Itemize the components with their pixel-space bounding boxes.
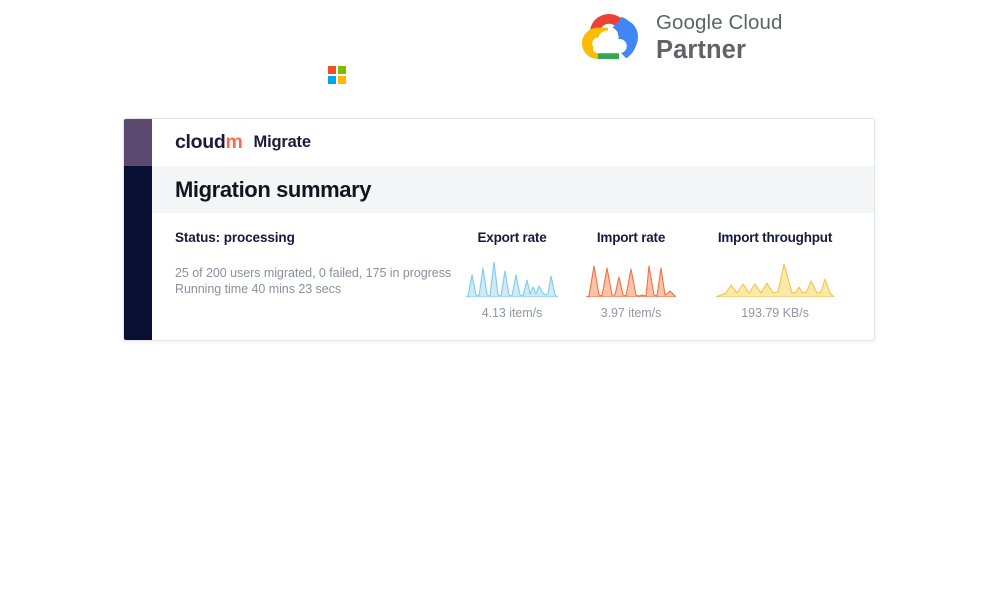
migration-summary-card: cloudm Migrate Migration summary Status:… [123,118,875,341]
microsoft-yellow-square [338,76,346,84]
metric-import-rate-value: 3.97 item/s [601,306,662,320]
card-accent-rail [124,119,152,340]
metric-export-rate-label: Export rate [477,230,546,245]
microsoft-logo-icon [328,66,346,84]
google-cloud-label: Google Cloud [656,13,783,34]
microsoft-green-square [338,66,346,74]
status-detail-runtime: Running time 40 mins 23 secs [175,281,452,297]
export-rate-sparkline [466,259,558,297]
cloudm-logo: cloudm [175,131,243,154]
cloudm-logo-m: m [226,131,243,153]
card-rail-bottom [124,166,152,340]
microsoft-blue-square [328,76,336,84]
google-cloud-logo-icon [578,12,640,64]
card-body: cloudm Migrate Migration summary Status:… [152,119,874,340]
microsoft-red-square [328,66,336,74]
card-brand-bar: cloudm Migrate [152,119,874,166]
import-throughput-sparkline [716,259,834,297]
metric-import-throughput: Import throughput 193.79 KB/s [690,230,860,340]
card-content: Status: processing 25 of 200 users migra… [152,213,874,340]
metric-export-rate-value: 4.13 item/s [482,306,543,320]
google-cloud-partner-text: Google Cloud Partner [656,13,783,64]
metric-import-rate: Import rate 3.97 item/s [572,230,690,340]
metric-import-rate-label: Import rate [597,230,665,245]
title-band: Migration summary [152,166,874,213]
product-name-label: Migrate [254,133,311,152]
metrics-row: Export rate 4.13 item/s Import rate 3.97… [452,230,874,340]
status-block: Status: processing 25 of 200 users migra… [152,230,452,340]
partner-label: Partner [656,38,783,64]
metric-import-throughput-value: 193.79 KB/s [741,306,809,320]
import-rate-sparkline [586,259,676,297]
cloudm-logo-word: cloud [175,131,226,153]
page-title: Migration summary [175,177,371,203]
card-rail-top [124,119,152,166]
status-badge: Status: processing [175,230,452,245]
google-cloud-partner-badge: Google Cloud Partner [578,12,783,64]
metric-export-rate: Export rate 4.13 item/s [452,230,572,340]
metric-import-throughput-label: Import throughput [718,230,832,245]
status-detail-users: 25 of 200 users migrated, 0 failed, 175 … [175,265,452,281]
